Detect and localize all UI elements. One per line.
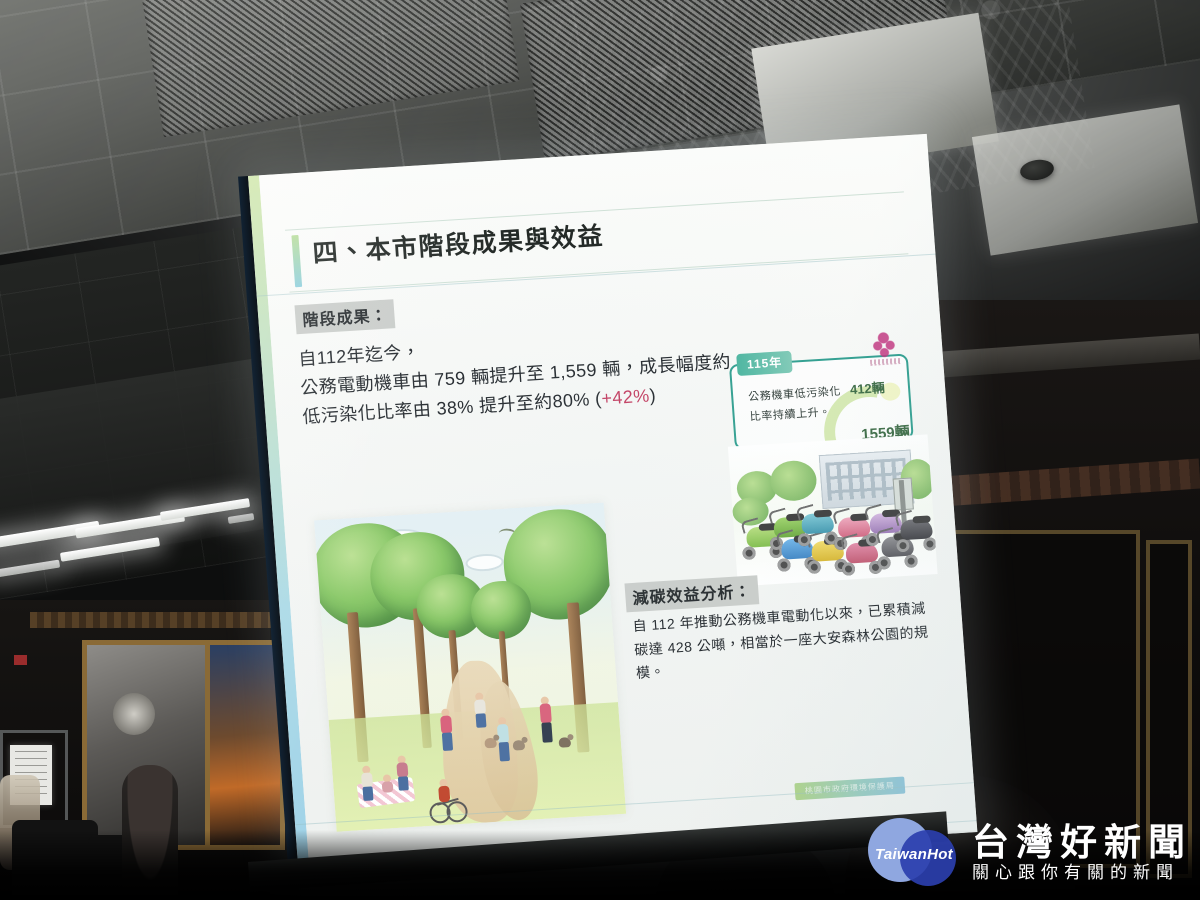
callout-year-badge: 115年 [736, 351, 793, 376]
results-body: 自112年迄今， 公務電動機車由 759 輛提升至 1,559 輛，成長幅度約 … [297, 316, 772, 432]
carbon-line-2: 428 公噸，相當於一座大安森林公園的規模。 [635, 623, 929, 681]
person-sitting [358, 765, 377, 802]
callout-value-start: 412輛 [849, 377, 885, 398]
person-walking [535, 696, 556, 743]
watermark-text-block: 台灣好新聞 關心跟你有關的新聞 [972, 824, 1192, 881]
scooter-wheel [742, 546, 756, 560]
slide-content-area: 四、本市階段成果與效益 階段成果： 自112年迄今， 公務電動機車由 759 輛… [259, 134, 977, 874]
projected-slide: 四、本市階段成果與效益 階段成果： 自112年迄今， 公務電動機車由 759 輛… [248, 134, 977, 874]
person-standing [471, 692, 490, 731]
scooter-wheel [896, 539, 910, 553]
projection-screen: 四、本市階段成果與效益 階段成果： 自112年迄今， 公務電動機車由 759 輛… [248, 134, 977, 874]
wall-cornice [30, 612, 280, 628]
scooter-wheel [923, 537, 937, 551]
cloud-graphic [467, 555, 502, 570]
dog-graphic [513, 740, 526, 751]
person-legs [442, 732, 453, 751]
person-torso [438, 786, 450, 803]
person-legs [541, 722, 552, 743]
person-torso [539, 703, 551, 724]
scooter-wheel [877, 556, 891, 570]
title-accent-mark [291, 235, 302, 287]
scooter-wheel [777, 558, 791, 572]
person-torso [497, 724, 509, 744]
person-torso [382, 781, 394, 793]
scooter-wheel [797, 533, 811, 547]
person-legs [363, 786, 374, 801]
person-standing [436, 708, 457, 751]
forest-park-illustration [314, 503, 626, 832]
carbon-tag: 減碳效益分析： [624, 575, 759, 612]
taiwanhot-logo-icon: TaiwanHot [868, 814, 960, 890]
person-legs [398, 776, 409, 791]
dog-graphic [484, 738, 497, 749]
results-tag: 階段成果： [294, 299, 395, 334]
watermark-tagline: 關心跟你有關的新聞 [972, 864, 1192, 881]
scooter-wheel [807, 560, 821, 574]
news-watermark: TaiwanHot 台灣好新聞 關心跟你有關的新聞 [868, 814, 1192, 890]
person-legs [476, 713, 487, 728]
tree-graphic [769, 459, 818, 502]
scooter-seat [912, 515, 930, 523]
child-sitting [381, 774, 395, 801]
scooter-graphic [893, 510, 938, 552]
scooter-seat [814, 509, 832, 517]
dog-graphic [558, 737, 571, 748]
logo-wordmark: TaiwanHot [874, 846, 954, 863]
carbon-section-label: 減碳效益分析： [624, 575, 759, 612]
photo-canvas: 四、本市階段成果與效益 階段成果： 自112年迄今， 公務電動機車由 759 輛… [0, 0, 1200, 900]
carbon-body: 自 112 年推動公務機車電動化以來，已累積減碳達 428 公噸，相當於一座大安… [632, 596, 937, 685]
person-sitting [393, 755, 412, 792]
scooter-wheel [904, 554, 918, 568]
delta-highlight: +42% [601, 386, 650, 409]
person-torso [440, 715, 452, 734]
scooter-wheel [842, 562, 856, 576]
watermark-headline: 台灣好新聞 [972, 824, 1192, 861]
electric-scooter-illustration [728, 434, 938, 586]
exit-sign-icon [14, 655, 27, 665]
taoyuan-peach-blossom-logo-icon [870, 328, 898, 362]
person-cycling [435, 779, 453, 810]
results-section-label: 階段成果： [294, 299, 395, 334]
person-legs [499, 742, 510, 762]
